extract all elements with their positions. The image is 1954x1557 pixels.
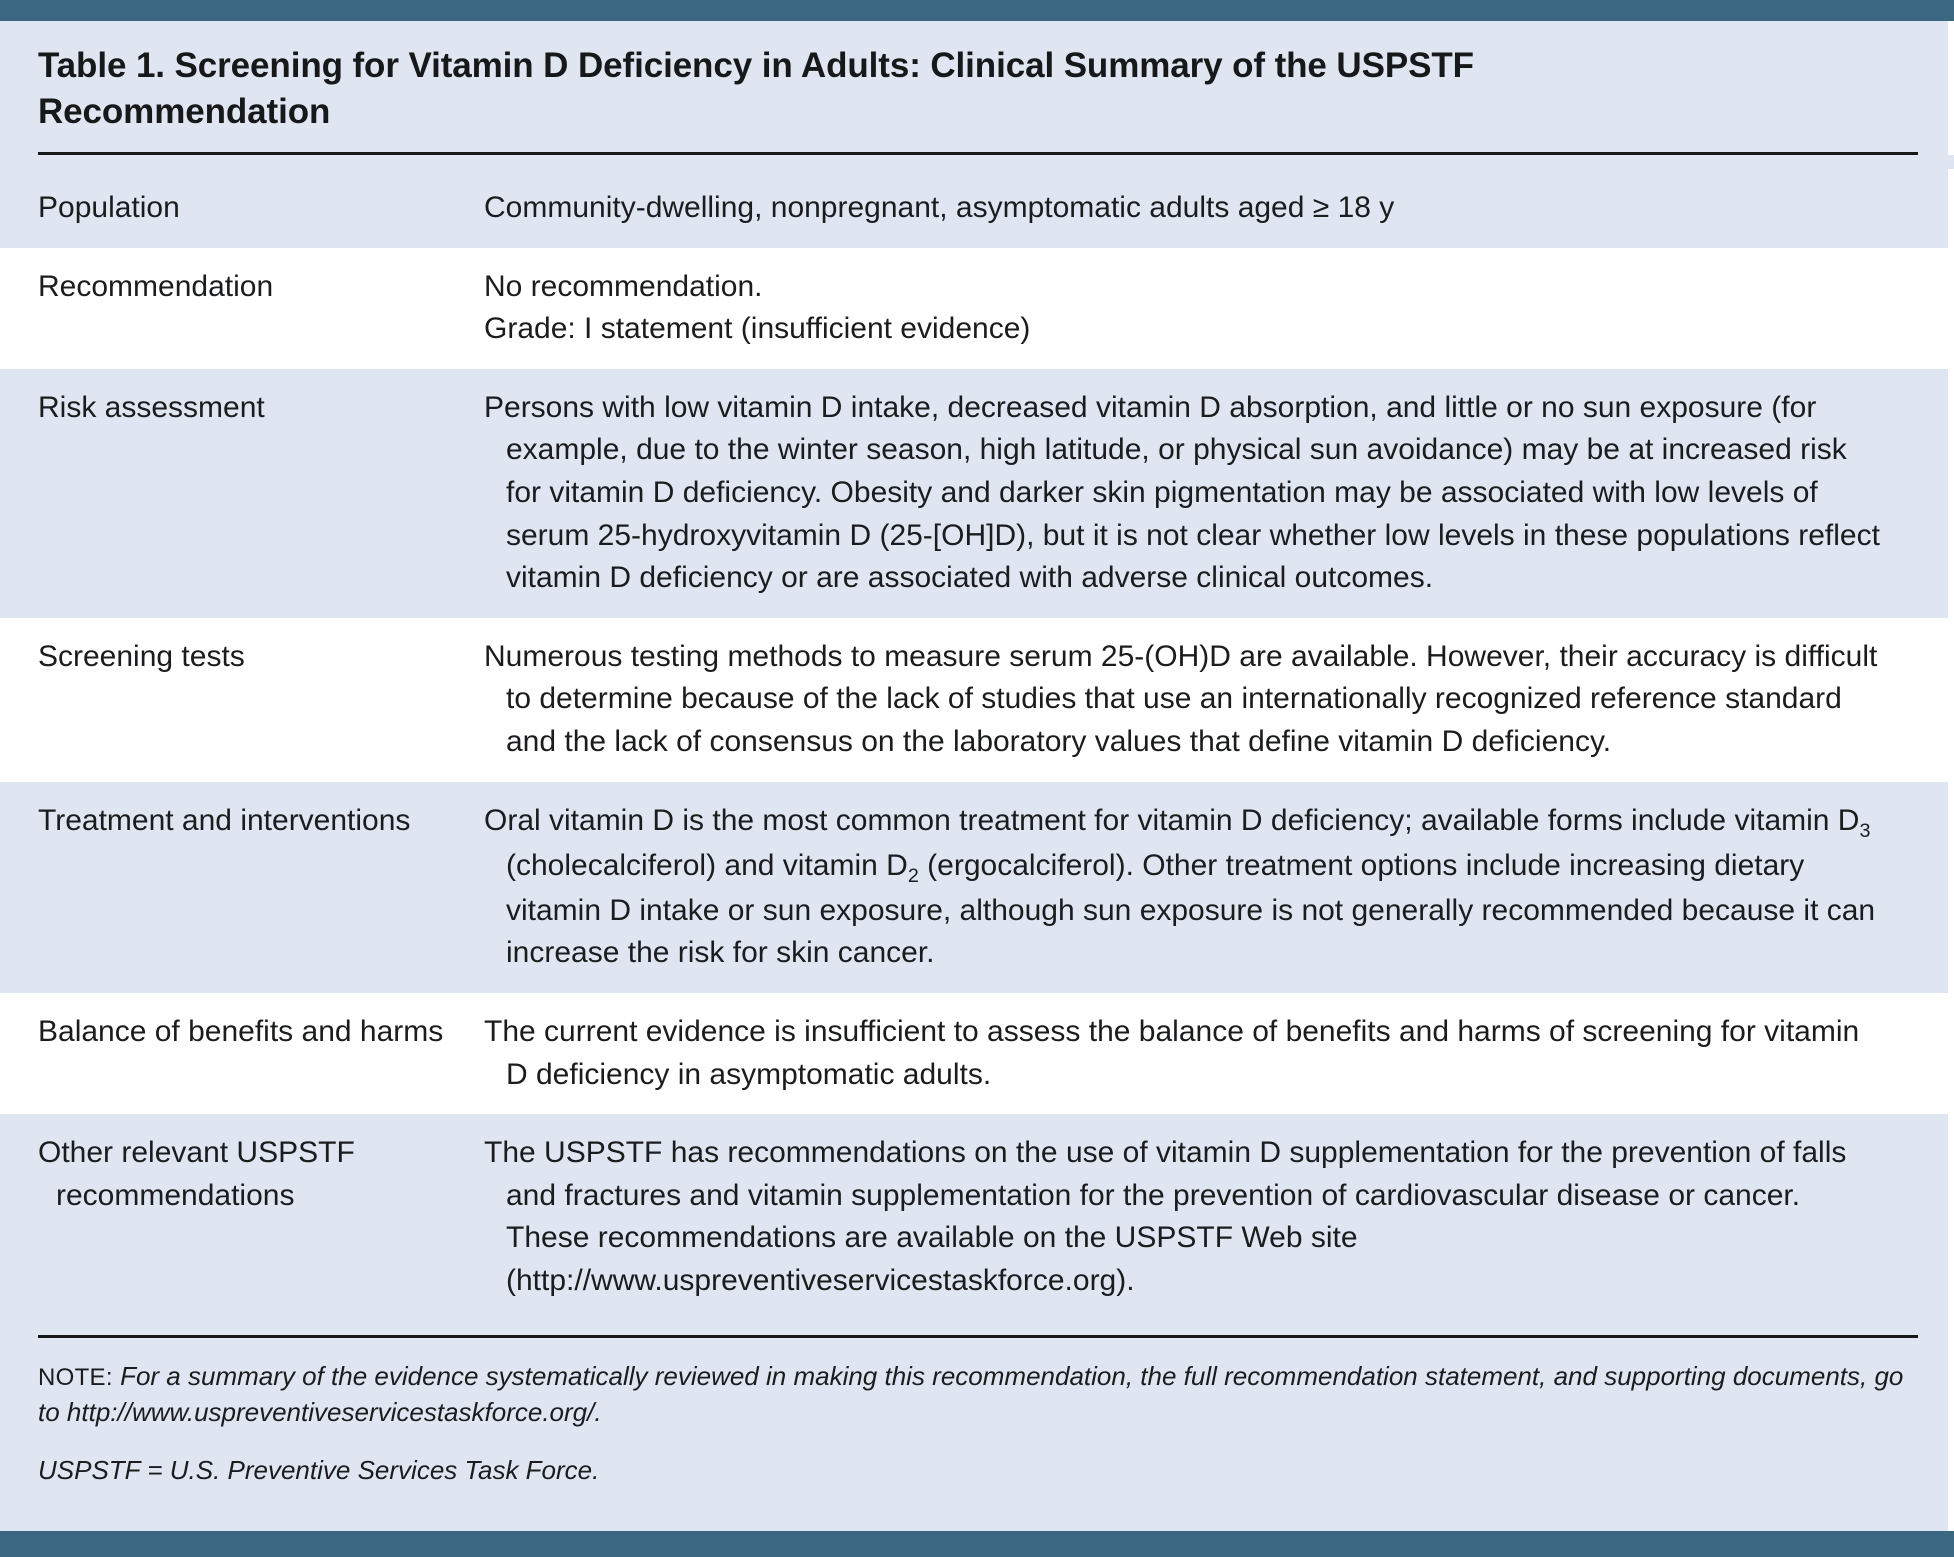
- table-figure: Table 1. Screening for Vitamin D Deficie…: [0, 0, 1954, 1503]
- row-value-paragraph: The USPSTF has recommendations on the us…: [484, 1132, 1888, 1302]
- row-value-paragraph: Persons with low vitamin D intake, decre…: [484, 387, 1888, 600]
- row-value: Oral vitamin D is the most common treatm…: [462, 800, 1948, 975]
- table-footer: NOTE: For a summary of the evidence syst…: [0, 1321, 1948, 1515]
- table-row: Balance of benefits and harmsThe current…: [0, 993, 1948, 1114]
- page-title: Table 1. Screening for Vitamin D Deficie…: [38, 43, 1678, 152]
- row-value: Numerous testing methods to measure seru…: [462, 636, 1948, 764]
- row-value-paragraph: Numerous testing methods to measure seru…: [484, 636, 1888, 764]
- row-value: The USPSTF has recommendations on the us…: [462, 1132, 1948, 1302]
- footnote-abbreviation: USPSTF = U.S. Preventive Services Task F…: [38, 1430, 1910, 1488]
- table-row: RecommendationNo recommendation.Grade: I…: [0, 248, 1948, 369]
- row-value: No recommendation.Grade: I statement (in…: [462, 266, 1948, 351]
- top-accent-bar: [0, 0, 1954, 21]
- row-value: Community-dwelling, nonpregnant, asympto…: [462, 187, 1948, 230]
- table-title-block: Table 1. Screening for Vitamin D Deficie…: [0, 21, 1948, 155]
- footer-tail-spacer: [0, 1515, 1948, 1531]
- footer-divider-spacer: [38, 1321, 1910, 1335]
- row-value-paragraph: Community-dwelling, nonpregnant, asympto…: [484, 187, 1888, 230]
- row-value-paragraph: Grade: I statement (insufficient evidenc…: [484, 308, 1888, 351]
- footnote-note-text: For a summary of the evidence systematic…: [38, 1361, 1903, 1428]
- title-divider-spacer: [0, 155, 1954, 169]
- row-value-paragraph: The current evidence is insufficient to …: [484, 1011, 1888, 1096]
- row-label: Other relevant USPSTF recommendations: [0, 1132, 462, 1302]
- footnote-note-label: NOTE:: [38, 1364, 113, 1391]
- row-value: Persons with low vitamin D intake, decre…: [462, 387, 1948, 600]
- table-row: PopulationCommunity-dwelling, nonpregnan…: [0, 169, 1948, 248]
- row-value: The current evidence is insufficient to …: [462, 1011, 1948, 1096]
- table-body: PopulationCommunity-dwelling, nonpregnan…: [0, 169, 1954, 1321]
- table-row: Treatment and interventionsOral vitamin …: [0, 782, 1948, 993]
- bottom-accent-bar: [0, 1531, 1954, 1557]
- row-value-paragraph: No recommendation.: [484, 266, 1888, 309]
- row-label: Screening tests: [0, 636, 462, 764]
- row-label: Population: [0, 187, 462, 230]
- table-row: Other relevant USPSTF recommendationsThe…: [0, 1114, 1948, 1320]
- row-label: Recommendation: [0, 266, 462, 351]
- row-value-paragraph: Oral vitamin D is the most common treatm…: [484, 800, 1888, 975]
- row-label: Treatment and interventions: [0, 800, 462, 975]
- row-label: Risk assessment: [0, 387, 462, 600]
- table-sheet: Table 1. Screening for Vitamin D Deficie…: [0, 21, 1954, 1531]
- row-label: Balance of benefits and harms: [0, 1011, 462, 1096]
- footnote-note: NOTE: For a summary of the evidence syst…: [38, 1338, 1910, 1431]
- table-row: Screening testsNumerous testing methods …: [0, 618, 1948, 782]
- table-row: Risk assessmentPersons with low vitamin …: [0, 369, 1948, 618]
